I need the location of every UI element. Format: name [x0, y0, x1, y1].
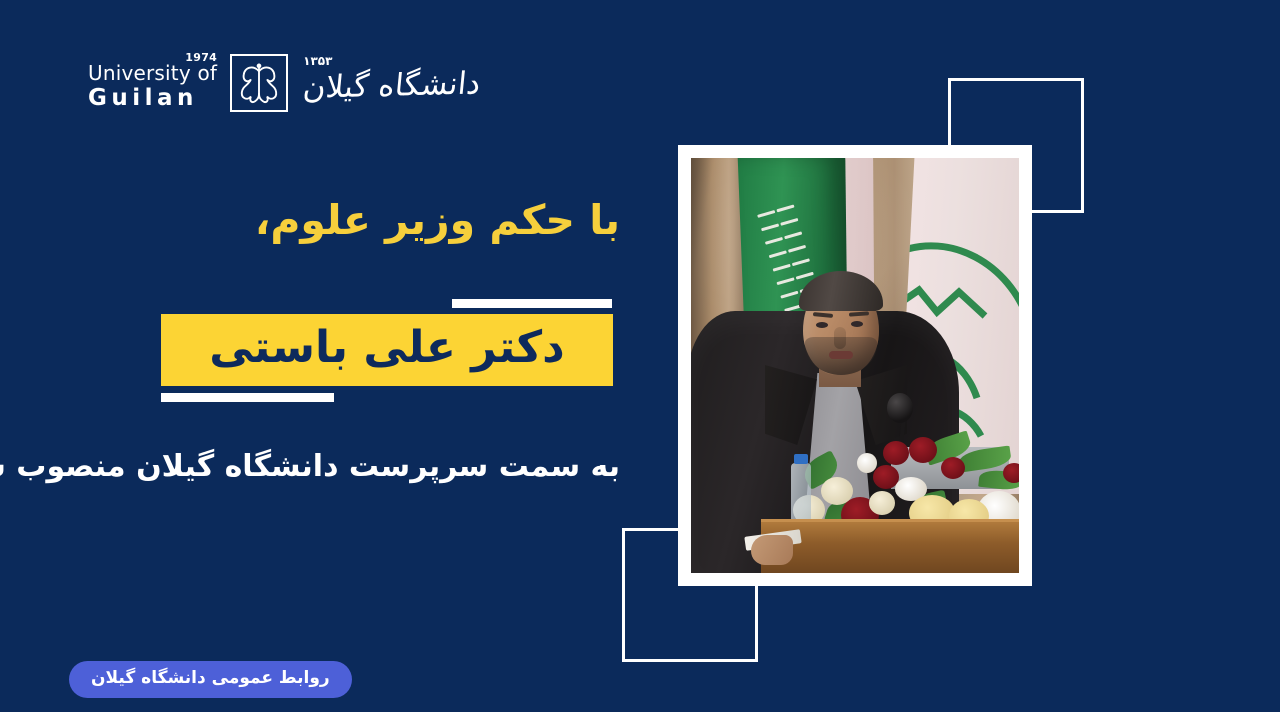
red-rose	[1003, 463, 1019, 483]
logo-year-persian: ۱۳۵۳	[303, 54, 332, 68]
logo-year-latin: 1974	[185, 52, 217, 63]
accent-bar-bottom	[161, 393, 334, 402]
logo-university-word: University of	[88, 63, 217, 83]
man-at-podium-photo	[691, 158, 1019, 573]
logo-persian-text: ۱۳۵۳ دانشگاه گیلان	[301, 46, 480, 120]
university-logo: 1974 University of Guilan ۱۳۵۳ دانشگاه گ…	[88, 44, 480, 122]
person-name: دکتر علی باستی	[209, 326, 564, 374]
public-relations-label: روابط عمومی دانشگاه گیلان	[91, 670, 330, 689]
red-rose	[883, 441, 909, 465]
name-banner: دکتر علی باستی	[161, 314, 613, 386]
microphone-icon	[887, 393, 913, 423]
red-rose	[941, 457, 965, 479]
logo-persian-name: دانشگاه گیلان	[302, 68, 482, 104]
announcement-poster: 1974 University of Guilan ۱۳۵۳ دانشگاه گ…	[0, 0, 1280, 712]
appointment-subtitle: به سمت سرپرست دانشگاه گیلان منصوب شد	[0, 447, 620, 486]
public-relations-badge: روابط عمومی دانشگاه گیلان	[69, 661, 352, 698]
headline-top-line: با حکم وزیر علوم،	[255, 196, 620, 245]
red-rose	[909, 437, 937, 463]
speaker-photo-card	[678, 145, 1032, 586]
eye-right	[851, 321, 863, 327]
cream-rose	[821, 477, 853, 505]
guilan-university-emblem-icon	[230, 54, 288, 112]
wooden-podium	[761, 519, 1019, 573]
mouth	[829, 351, 853, 359]
eye-left	[816, 322, 828, 328]
nose	[834, 327, 846, 349]
logo-latin-text: 1974 University of Guilan	[88, 57, 217, 110]
hair	[799, 271, 883, 311]
hand	[751, 535, 793, 565]
cream-rose	[869, 491, 895, 515]
white-rose	[857, 453, 877, 473]
logo-guilan-word: Guilan	[88, 87, 198, 110]
accent-bar-top	[452, 299, 612, 308]
